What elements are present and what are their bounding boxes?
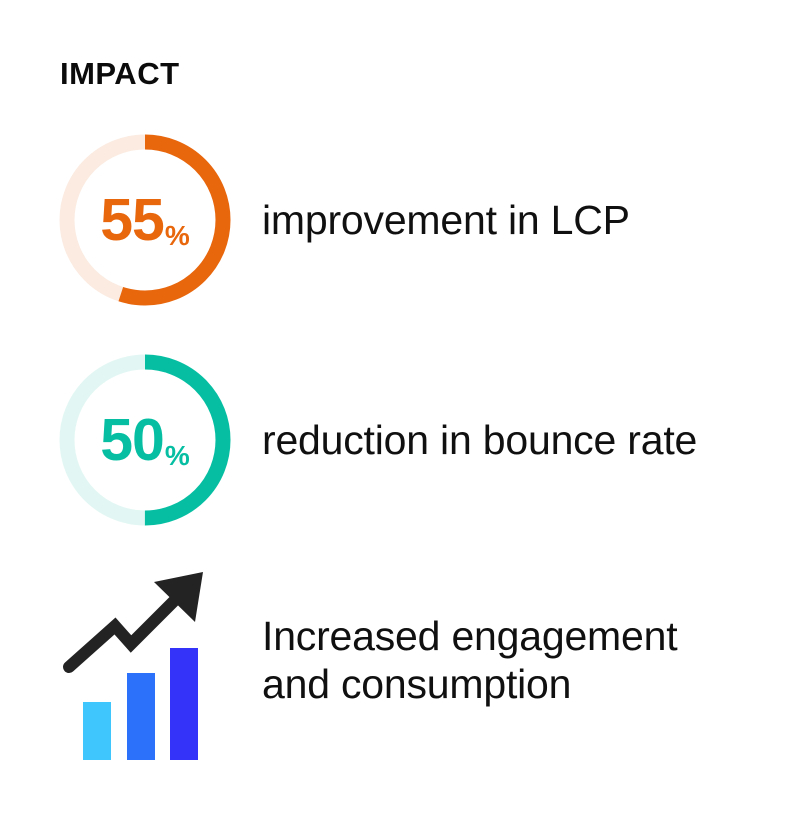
stat-visual-slot: 50 % bbox=[55, 350, 235, 530]
stat-label-line: reduction in bounce rate bbox=[262, 416, 800, 464]
growth-bar-1 bbox=[83, 702, 111, 760]
growth-bar-2 bbox=[127, 673, 155, 760]
stat-label-lcp-improvement: improvement in LCP bbox=[262, 196, 800, 244]
stat-label-line: Increased engagement bbox=[262, 612, 800, 660]
growth-bar-3 bbox=[170, 648, 198, 760]
stat-row-lcp-improvement: 55 % improvement in LCP bbox=[0, 130, 800, 310]
stat-label-line: and consumption bbox=[262, 660, 800, 708]
stat-row-engagement-consumption: Increased engagement and consumption bbox=[0, 560, 800, 760]
page-title: IMPACT bbox=[60, 58, 180, 89]
stat-label-bounce-rate-reduction: reduction in bounce rate bbox=[262, 416, 800, 464]
growth-bar-chart-arrow-icon bbox=[55, 560, 235, 760]
stat-row-bounce-rate-reduction: 50 % reduction in bounce rate bbox=[0, 350, 800, 530]
stat-label-engagement-consumption: Increased engagement and consumption bbox=[262, 612, 800, 709]
stat-label-line: improvement in LCP bbox=[262, 196, 800, 244]
stat-visual-slot: 55 % bbox=[55, 130, 235, 310]
impact-card: IMPACT 55 % improvement in LCP bbox=[0, 0, 800, 825]
donut-progress-teal-icon bbox=[55, 350, 235, 530]
stat-visual-slot bbox=[55, 560, 235, 760]
donut-progress-orange-icon bbox=[55, 130, 235, 310]
